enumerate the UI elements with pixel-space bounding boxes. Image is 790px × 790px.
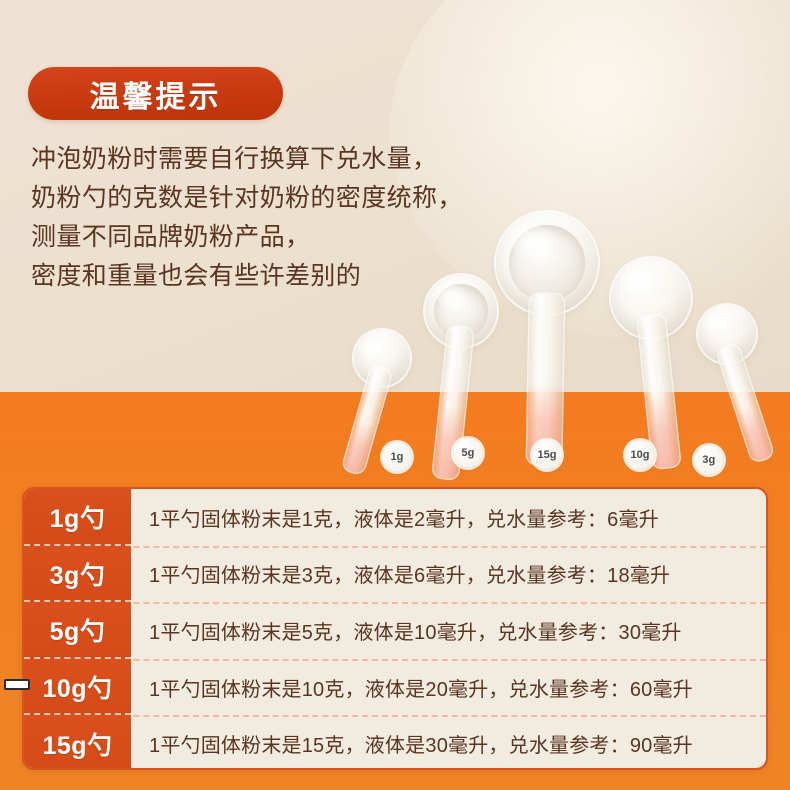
spoon-handle [717,344,774,463]
row-description: 1平勺固体粉末是10克，液体是20毫升，兑水量参考：60毫升 [131,659,766,716]
handle-tint [736,404,774,462]
product-detail-page: 1g 5g 15g 1 [0,0,790,790]
handle-tint [342,421,376,475]
row-description: 1平勺固体粉末是15克，液体是30毫升，兑水量参考：90毫升 [131,715,766,770]
spoon-gram-badge: 1g [382,442,412,472]
intro-line: 测量不同品牌奶粉产品， [31,218,501,257]
table-row: 5g勺 1平勺固体粉末是5克，液体是10毫升，兑水量参考：30毫升 [24,602,766,659]
row-description: 1平勺固体粉末是5克，液体是10毫升，兑水量参考：30毫升 [131,602,766,659]
table-row: 1g勺 1平勺固体粉末是1克，液体是2毫升，兑水量参考：6毫升 [24,489,766,546]
spoon-gram-badge: 15g [532,440,562,470]
spoon-5g: 5g [418,275,504,470]
intro-line: 冲泡奶粉时需要自行换算下兑水量， [31,140,501,179]
intro-paragraph: 冲泡奶粉时需要自行换算下兑水量， 奶粉勺的克数是针对奶粉的密度统称， 测量不同品… [31,140,501,296]
spoon-3g: 3g [692,305,762,470]
spoon-gram-label: 3g [702,454,715,466]
spoon-handle [527,294,564,465]
intro-line: 密度和重量也会有些许差别的 [31,257,501,296]
tips-badge-label: 温馨提示 [90,72,222,116]
spoon-gram-label: 5g [461,447,474,459]
row-description: 1平勺固体粉末是3克，液体是6毫升，兑水量参考：18毫升 [131,546,766,603]
row-size-label: 5g勺 [24,602,131,659]
table-row: 3g勺 1平勺固体粉末是3克，液体是6毫升，兑水量参考：18毫升 [24,546,766,603]
row-size-label: 15g勺 [24,715,131,770]
edge-marker [4,679,30,690]
row-size-label: 1g勺 [24,489,131,546]
spoon-gram-badge: 5g [453,438,483,468]
spoon-gram-label: 15g [538,449,557,461]
tips-badge: 温馨提示 [28,67,283,120]
spoon-gram-label: 1g [391,451,404,463]
spoon-15g: 15g [493,212,601,470]
spoon-gram-label: 10g [630,449,649,461]
intro-line: 奶粉勺的克数是针对奶粉的密度统称， [31,179,501,218]
spoon-10g: 10g [605,258,697,470]
spoon-gram-badge: 10g [625,440,655,470]
spoon-gram-badge: 3g [694,445,724,475]
spoon-1g: 1g [348,330,416,470]
table-row: 10g勺 1平勺固体粉末是10克，液体是20毫升，兑水量参考：60毫升 [24,659,766,716]
row-size-label: 10g勺 [24,659,131,716]
spec-table: 1g勺 1平勺固体粉末是1克，液体是2毫升，兑水量参考：6毫升 3g勺 1平勺固… [22,487,768,770]
row-size-label: 3g勺 [24,546,131,603]
table-row: 15g勺 1平勺固体粉末是15克，液体是30毫升，兑水量参考：90毫升 [24,715,766,770]
row-description: 1平勺固体粉末是1克，液体是2毫升，兑水量参考：6毫升 [131,489,766,546]
